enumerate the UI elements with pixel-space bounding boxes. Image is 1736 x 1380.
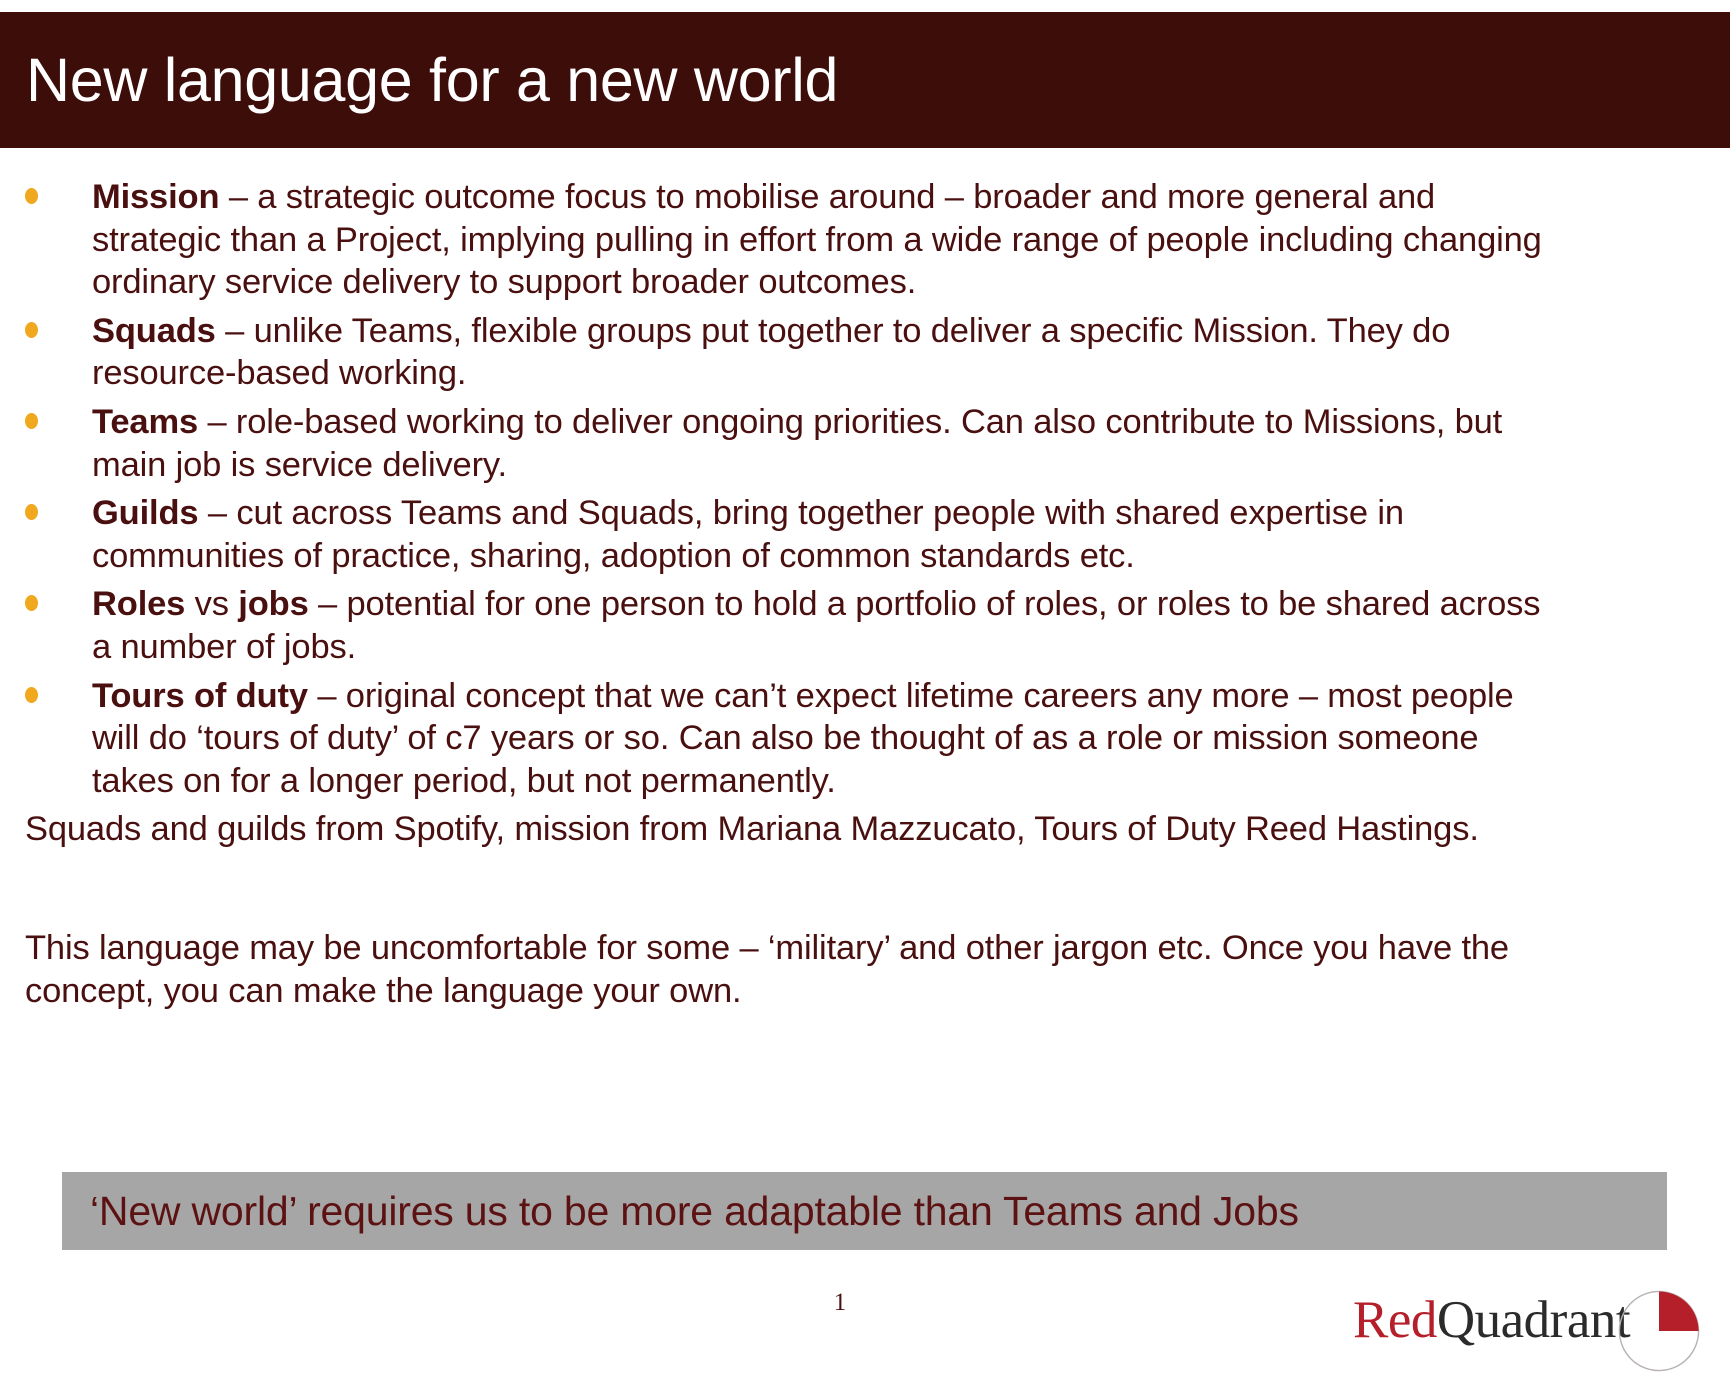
bullet-dot-icon <box>25 504 38 520</box>
bullet-body-text: – role-based working to deliver ongoing … <box>92 403 1502 484</box>
closing-paragraph: This language may be uncomfortable for s… <box>0 927 1736 1012</box>
redquadrant-logo: RedQuadrant <box>1353 1276 1713 1376</box>
bullet-body-text: – unlike Teams, flexible groups put toge… <box>92 312 1450 393</box>
list-item: Squads – unlike Teams, flexible groups p… <box>0 310 1736 395</box>
callout-text: ‘New world’ requires us to be more adapt… <box>90 1188 1299 1235</box>
quadrant-circle-icon <box>1616 1288 1702 1374</box>
list-item: Roles vs jobs – potential for one person… <box>0 583 1736 668</box>
source-note: Squads and guilds from Spotify, mission … <box>0 808 1736 851</box>
list-item: Mission – a strategic outcome focus to m… <box>0 176 1736 304</box>
bullet-lead-term: Mission <box>92 178 219 216</box>
bullet-dot-icon <box>25 413 38 429</box>
logo-red-text: Red <box>1353 1291 1437 1349</box>
bullet-dot-icon <box>25 322 38 338</box>
bullet-dot-icon <box>25 188 38 204</box>
bullet-list: Mission – a strategic outcome focus to m… <box>0 176 1736 802</box>
bullet-dot-icon <box>25 687 38 703</box>
list-item: Guilds – cut across Teams and Squads, br… <box>0 492 1736 577</box>
list-item: Teams – role-based working to deliver on… <box>0 401 1736 486</box>
slide-body: Mission – a strategic outcome focus to m… <box>0 176 1736 1012</box>
list-item: Tours of duty – original concept that we… <box>0 675 1736 803</box>
callout-bar: ‘New world’ requires us to be more adapt… <box>62 1172 1667 1250</box>
bullet-lead-term: Roles <box>92 585 185 623</box>
bullet-lead-term: Tours of duty <box>92 677 308 715</box>
bullet-lead-term-2: jobs <box>238 585 308 623</box>
bullet-body-text: – cut across Teams and Squads, bring tog… <box>92 494 1404 575</box>
bullet-body-text: – a strategic outcome focus to mobilise … <box>92 178 1542 301</box>
bullet-lead-term: Guilds <box>92 494 198 532</box>
bullet-body-text: – potential for one person to hold a por… <box>92 585 1540 666</box>
bullet-lead-term: Squads <box>92 312 216 350</box>
logo-quadrant-text: Quadrant <box>1437 1291 1630 1349</box>
page-title: New language for a new world <box>26 48 838 112</box>
bullet-mid: vs <box>185 585 238 623</box>
logo-wordmark: RedQuadrant <box>1353 1290 1630 1350</box>
bullet-lead-term: Teams <box>92 403 198 441</box>
slide-title-banner: New language for a new world <box>0 12 1730 148</box>
bullet-dot-icon <box>25 595 38 611</box>
